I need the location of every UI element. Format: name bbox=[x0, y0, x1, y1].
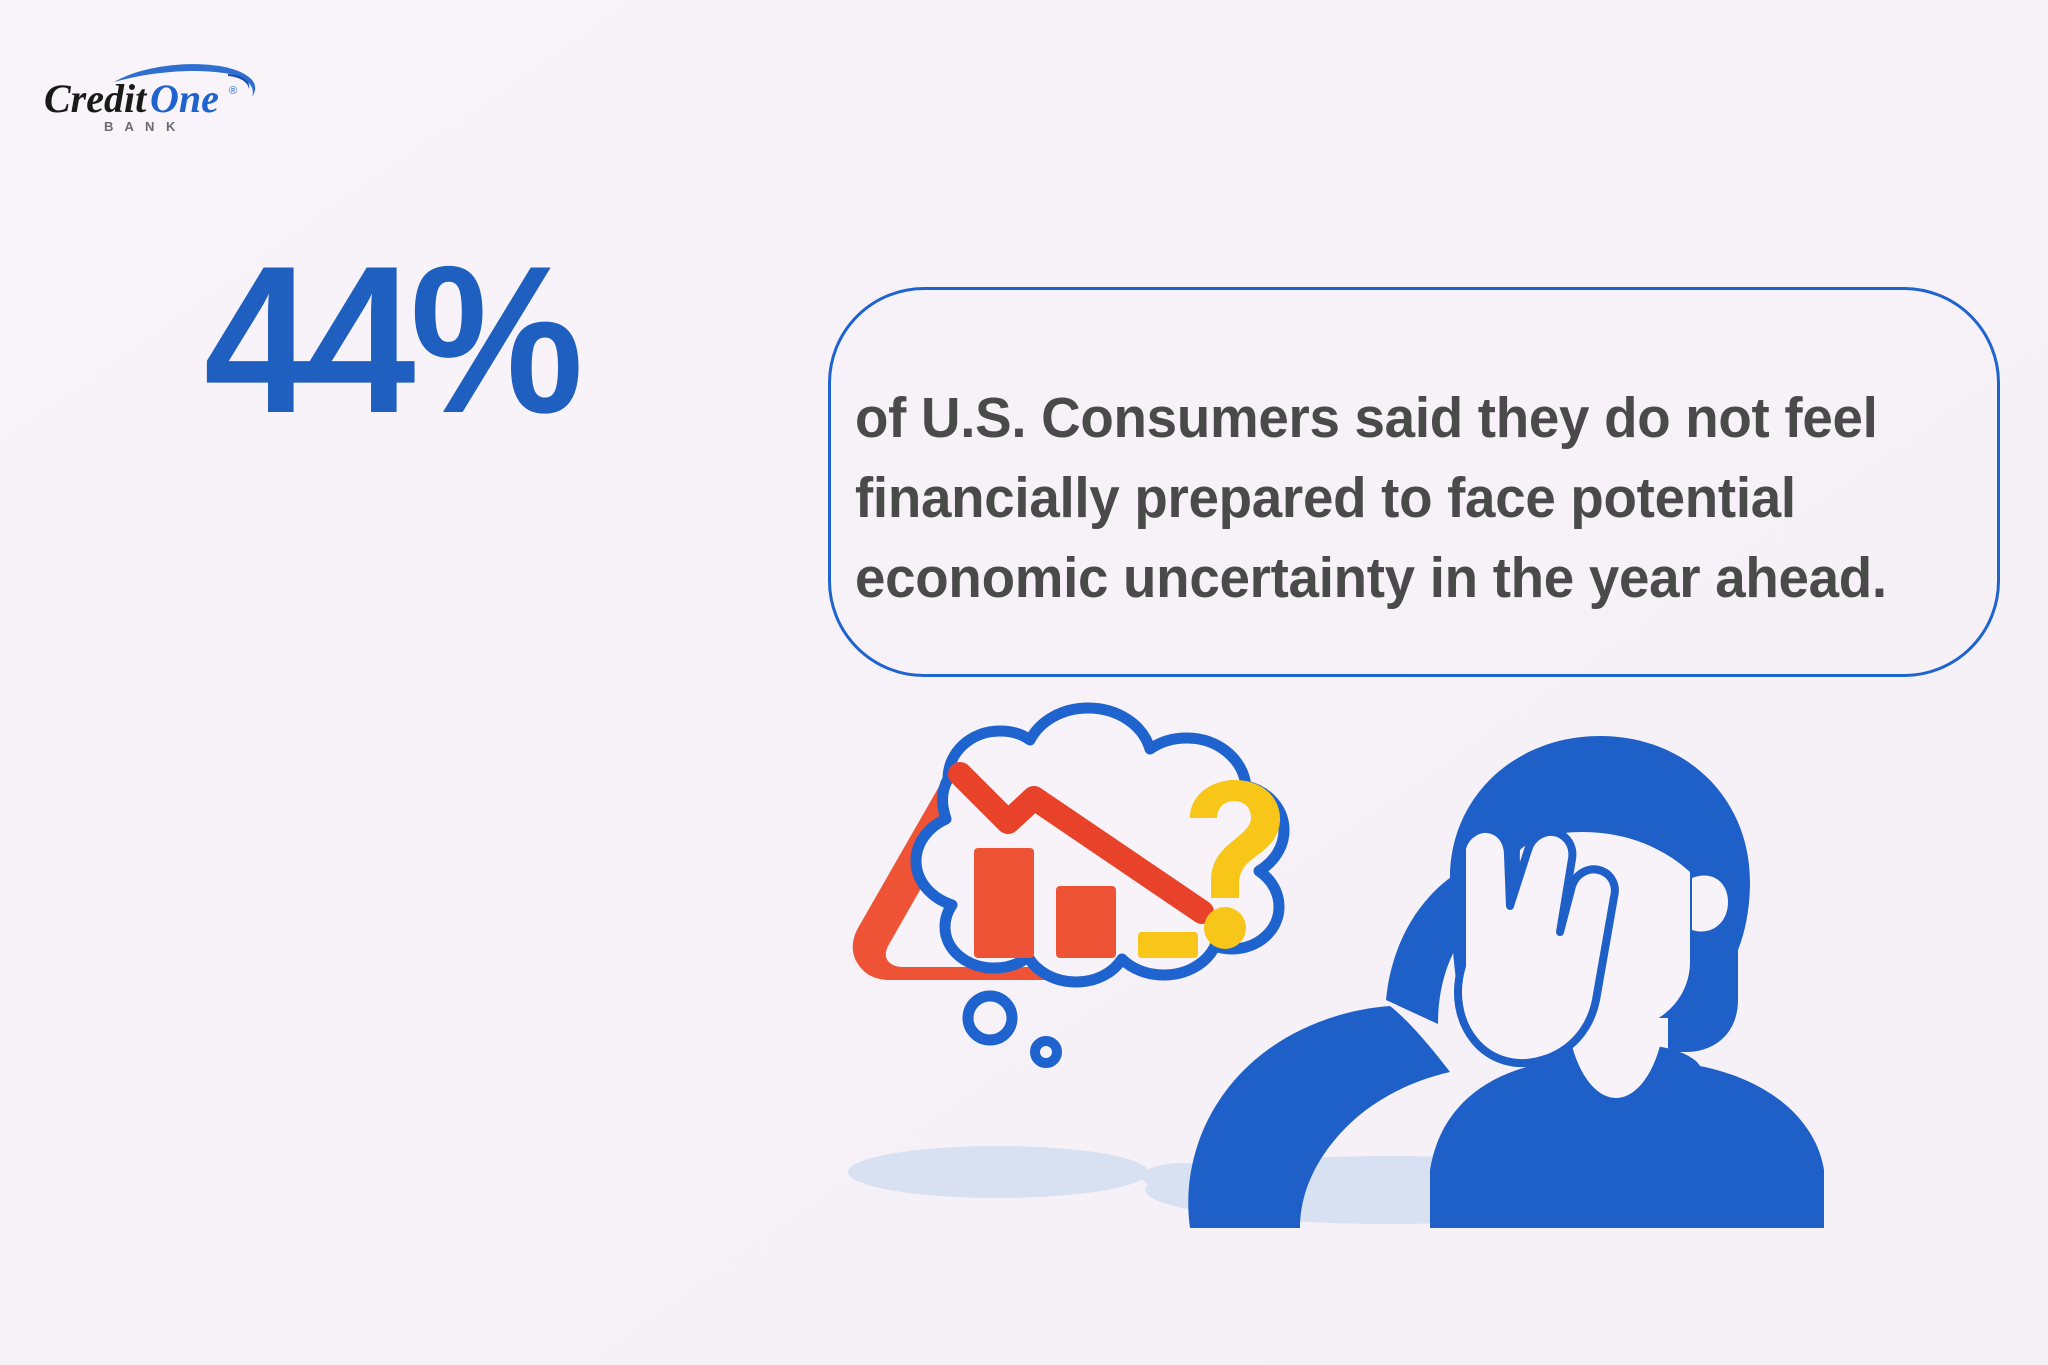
illustration-svg bbox=[830, 700, 1890, 1260]
stat-percentage: 44% bbox=[191, 247, 591, 432]
logo-registered-mark: ® bbox=[229, 85, 237, 97]
thought-bubble-dot-large bbox=[968, 996, 1012, 1040]
callout-line-3: economic uncertainty in the year ahead. bbox=[855, 538, 1916, 618]
logo-word-one: One bbox=[150, 76, 219, 121]
callout-line-2: financially prepared to face potential bbox=[855, 458, 1916, 538]
thought-bubble-dot-small bbox=[1035, 1041, 1057, 1063]
chart-bar-1 bbox=[974, 848, 1034, 958]
callout-line-1: of U.S. Consumers said they do not feel bbox=[855, 378, 1916, 458]
chart-bar-2 bbox=[1056, 886, 1116, 958]
illustration-group bbox=[830, 700, 1890, 1260]
logo-word-credit: Credit bbox=[44, 76, 148, 121]
question-mark-dot bbox=[1204, 907, 1246, 949]
callout-text: of U.S. Consumers said they do not feel … bbox=[855, 378, 1916, 618]
chart-bar-3 bbox=[1138, 932, 1198, 958]
logo-svg: Credit One ® B A N K bbox=[42, 52, 272, 138]
logo-subtitle-bank: B A N K bbox=[104, 119, 179, 134]
warning-shadow bbox=[848, 1146, 1148, 1198]
credit-one-bank-logo: Credit One ® B A N K bbox=[42, 52, 272, 138]
infographic-canvas: Credit One ® B A N K 44% of U.S. Consume… bbox=[0, 0, 2048, 1365]
